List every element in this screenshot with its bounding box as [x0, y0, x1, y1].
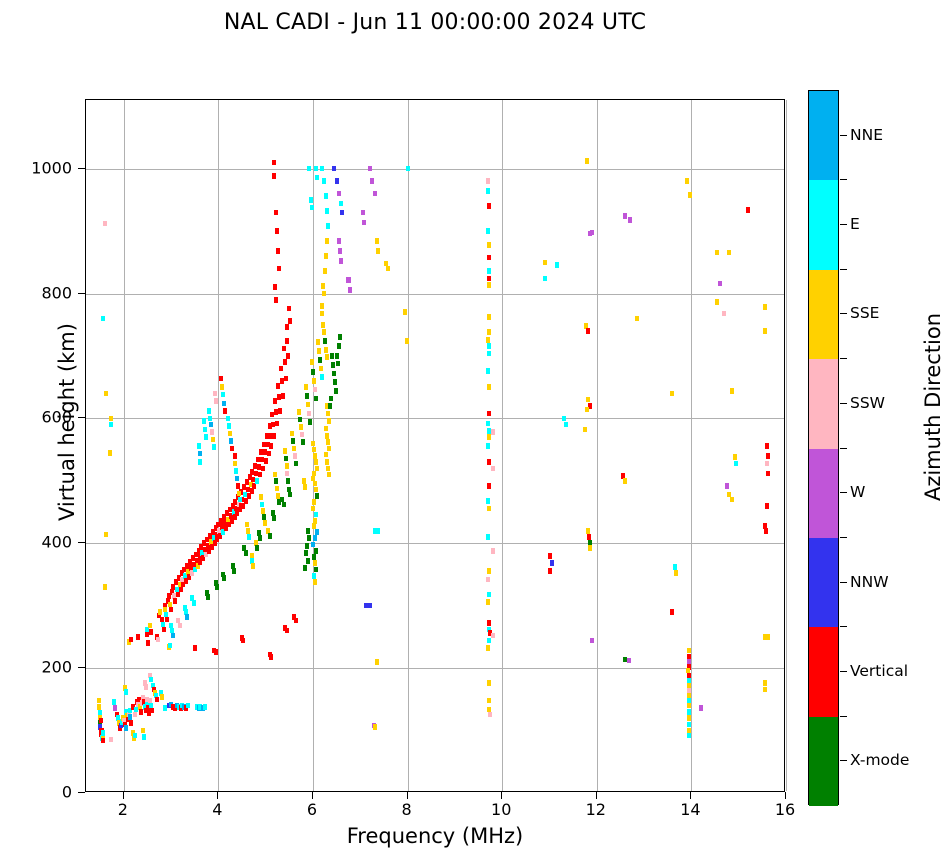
echo-mark: [586, 328, 590, 334]
echo-mark: [543, 276, 547, 282]
echo-mark: [687, 722, 691, 728]
echo-mark: [234, 468, 238, 474]
echo-mark: [260, 502, 264, 508]
echo-mark: [207, 408, 211, 414]
echo-mark: [312, 447, 316, 453]
echo-mark: [103, 221, 107, 227]
colorbar-label-tick: [840, 671, 847, 672]
echo-mark: [368, 603, 372, 609]
echo-mark: [376, 248, 380, 254]
echo-mark: [722, 311, 726, 317]
echo-mark: [486, 599, 490, 605]
echo-mark: [688, 192, 692, 198]
echo-mark: [486, 421, 490, 427]
echo-mark: [144, 684, 148, 690]
echo-mark: [332, 166, 336, 172]
echo-mark: [268, 533, 272, 539]
echo-mark: [315, 529, 319, 535]
echo-mark: [327, 418, 331, 424]
echo-mark: [487, 242, 491, 248]
echo-mark: [487, 483, 491, 489]
echo-mark: [198, 451, 202, 457]
echo-mark: [730, 497, 734, 503]
echo-mark: [685, 178, 689, 184]
echo-mark: [332, 371, 336, 377]
echo-mark: [338, 334, 342, 340]
echo-mark: [279, 366, 283, 372]
echo-mark: [283, 448, 287, 454]
colorbar-label-tick: [840, 135, 847, 136]
echo-mark: [548, 553, 552, 559]
echo-mark: [150, 708, 154, 714]
echo-mark: [310, 205, 314, 211]
echo-mark: [220, 384, 224, 390]
echo-mark: [307, 166, 311, 172]
echo-mark: [282, 346, 286, 352]
echo-mark: [128, 714, 132, 720]
echo-mark: [306, 528, 310, 534]
echo-mark: [206, 594, 210, 600]
echo-mark: [288, 318, 292, 324]
echo-mark: [104, 532, 108, 538]
echo-mark: [324, 193, 328, 199]
echo-mark: [335, 178, 339, 184]
echo-mark: [491, 466, 495, 472]
echo-mark: [628, 217, 632, 223]
echo-mark: [324, 452, 328, 458]
echo-mark: [108, 450, 112, 456]
echo-mark: [487, 506, 491, 512]
colorbar-segment-ssw: [809, 359, 838, 448]
colorbar-label-e: E: [850, 215, 860, 233]
echo-mark: [198, 459, 202, 465]
echo-mark: [486, 228, 490, 234]
echo-mark: [313, 453, 317, 459]
echo-mark: [487, 620, 491, 626]
echo-mark: [406, 166, 410, 172]
echo-mark: [244, 550, 248, 556]
echo-mark: [165, 617, 169, 623]
colorbar-label-nnw: NNW: [850, 573, 889, 591]
echo-mark: [324, 347, 328, 353]
echo-mark: [228, 431, 232, 437]
echo-mark: [103, 584, 107, 590]
echo-mark: [221, 392, 225, 398]
echo-mark: [699, 705, 703, 711]
echo-mark: [273, 472, 277, 478]
echo-mark: [272, 433, 276, 439]
echo-mark: [212, 444, 216, 450]
echo-mark: [241, 638, 245, 644]
echo-mark: [297, 409, 301, 415]
echo-mark: [226, 416, 230, 422]
echo-mark: [328, 403, 332, 409]
echo-mark: [209, 422, 213, 428]
echo-mark: [204, 434, 208, 440]
echo-mark: [113, 705, 117, 711]
echo-mark: [746, 207, 750, 213]
echo-mark: [725, 483, 729, 489]
echo-mark: [324, 426, 328, 432]
echo-mark: [340, 210, 344, 216]
echo-mark: [282, 502, 286, 508]
echo-mark: [99, 718, 103, 724]
echo-mark: [178, 623, 182, 629]
echo-mark: [405, 338, 409, 344]
echo-mark: [320, 374, 324, 380]
colorbar-title: Azimuth Direction: [921, 242, 945, 572]
echo-mark: [306, 558, 310, 564]
echo-mark: [112, 699, 116, 705]
echo-mark: [487, 459, 491, 465]
echo-mark: [321, 283, 325, 289]
echo-mark: [331, 362, 335, 368]
echo-mark: [314, 512, 318, 518]
echo-mark: [765, 443, 769, 449]
echo-mark: [730, 388, 734, 394]
echo-mark: [763, 328, 767, 334]
echo-mark: [133, 733, 137, 739]
echo-mark: [215, 584, 219, 590]
echo-mark: [491, 429, 495, 435]
echo-mark: [715, 299, 719, 305]
echo-mark: [329, 396, 333, 402]
colorbar-segment-nnw: [809, 538, 838, 627]
echo-mark: [311, 506, 315, 512]
colorbar: [808, 90, 839, 805]
echo-mark: [320, 311, 324, 317]
echo-mark: [155, 697, 159, 703]
echo-mark: [312, 554, 316, 560]
echo-mark: [487, 343, 491, 349]
echo-mark: [310, 359, 314, 365]
echo-mark: [586, 528, 590, 534]
echo-mark: [487, 203, 491, 209]
echo-mark: [318, 357, 322, 363]
echo-mark: [277, 266, 281, 272]
echo-mark: [238, 497, 242, 503]
echo-mark: [486, 368, 490, 374]
colorbar-label-tick: [840, 582, 847, 583]
echo-mark: [305, 543, 309, 549]
echo-mark: [486, 498, 490, 504]
colorbar-label-tick: [840, 492, 847, 493]
echo-mark: [223, 408, 227, 414]
echo-mark: [250, 488, 254, 494]
echo-mark: [555, 262, 559, 268]
echo-mark: [149, 677, 153, 683]
echo-mark: [326, 411, 330, 417]
echo-mark: [139, 709, 143, 715]
echo-mark: [294, 461, 298, 467]
echo-mark: [162, 627, 166, 633]
echo-mark: [230, 446, 234, 452]
echo-mark: [326, 466, 330, 472]
echo-mark: [590, 638, 594, 644]
echo-mark: [403, 309, 407, 315]
echo-mark: [171, 633, 175, 639]
echo-mark: [487, 329, 491, 335]
echo-mark: [314, 166, 318, 172]
ionogram-scatter-marks: [86, 100, 784, 791]
colorbar-label-nne: NNE: [850, 126, 883, 144]
colorbar-label-tick: [840, 403, 847, 404]
echo-mark: [292, 446, 296, 452]
y-tick: [78, 542, 85, 543]
echo-mark: [317, 348, 321, 354]
echo-mark: [316, 339, 320, 345]
echo-mark: [203, 427, 207, 433]
echo-mark: [487, 351, 491, 357]
echo-mark: [274, 210, 278, 216]
echo-mark: [766, 634, 770, 640]
echo-mark: [487, 314, 491, 320]
x-tick-label: 12: [586, 800, 606, 819]
echo-mark: [375, 659, 379, 665]
echo-mark: [487, 276, 491, 282]
echo-mark: [124, 725, 128, 731]
echo-mark: [585, 407, 589, 413]
echo-mark: [211, 437, 215, 443]
echo-mark: [763, 304, 767, 310]
x-axis-label: Frequency (MHz): [85, 824, 785, 848]
echo-mark: [156, 637, 160, 643]
echo-mark: [239, 503, 243, 509]
echo-mark: [186, 703, 190, 709]
echo-mark: [368, 166, 372, 172]
echo-mark: [273, 284, 277, 290]
y-tick: [78, 168, 85, 169]
echo-mark: [245, 522, 249, 528]
echo-mark: [673, 564, 677, 570]
colorbar-label-ssw: SSW: [850, 394, 885, 412]
echo-mark: [202, 418, 206, 424]
x-tick: [690, 792, 691, 799]
echo-mark: [487, 255, 491, 261]
echo-mark: [309, 197, 313, 203]
echo-mark: [272, 515, 276, 521]
y-tick: [78, 293, 85, 294]
echo-mark: [307, 535, 311, 541]
echo-mark: [337, 343, 341, 349]
echo-mark: [376, 528, 380, 534]
echo-mark: [373, 724, 377, 730]
echo-mark: [222, 401, 226, 407]
echo-mark: [487, 411, 491, 417]
x-tick-label: 8: [402, 800, 412, 819]
echo-mark: [320, 303, 324, 309]
echo-mark: [487, 282, 491, 288]
echo-mark: [101, 730, 105, 736]
colorbar-tick: [840, 358, 847, 359]
echo-mark: [285, 471, 289, 477]
echo-mark: [146, 640, 150, 646]
echo-mark: [227, 423, 231, 429]
x-tick: [596, 792, 597, 799]
echo-mark: [334, 388, 338, 394]
echo-mark: [487, 268, 491, 274]
colorbar-label-vertical: Vertical: [850, 662, 908, 680]
echo-mark: [208, 416, 212, 422]
echo-mark: [487, 568, 491, 574]
echo-mark: [362, 220, 366, 226]
echo-mark: [687, 709, 691, 715]
echo-mark: [101, 316, 105, 322]
echo-mark: [766, 453, 770, 459]
echo-mark: [274, 478, 278, 484]
colorbar-segment-w: [809, 449, 838, 538]
echo-mark: [586, 397, 590, 403]
echo-mark: [325, 459, 329, 465]
echo-mark: [325, 433, 329, 439]
echo-mark: [487, 698, 491, 704]
echo-mark: [488, 712, 492, 718]
echo-mark: [299, 424, 303, 430]
echo-mark: [346, 277, 350, 283]
echo-mark: [97, 704, 101, 710]
echo-mark: [322, 178, 326, 184]
echo-mark: [291, 438, 295, 444]
echo-mark: [285, 338, 289, 344]
echo-mark: [264, 458, 268, 464]
y-tick: [78, 417, 85, 418]
echo-mark: [247, 493, 251, 499]
echo-mark: [274, 297, 278, 303]
echo-mark: [321, 322, 325, 328]
echo-mark: [298, 417, 302, 423]
plot-area: [85, 99, 785, 792]
echo-mark: [320, 166, 324, 172]
echo-mark: [142, 734, 146, 740]
y-axis-label: Virtual height (km): [55, 222, 79, 622]
echo-mark: [284, 456, 288, 462]
x-tick-label: 16: [775, 800, 795, 819]
echo-mark: [386, 266, 390, 272]
echo-mark: [284, 376, 288, 382]
echo-mark: [322, 291, 326, 297]
echo-mark: [335, 353, 339, 359]
x-tick-label: 6: [307, 800, 317, 819]
echo-mark: [734, 461, 738, 467]
colorbar-segment-e: [809, 180, 838, 269]
echo-mark: [763, 680, 767, 686]
echo-mark: [314, 487, 318, 493]
echo-mark: [97, 698, 101, 704]
echo-mark: [486, 337, 490, 343]
echo-mark: [141, 728, 145, 734]
x-tick-label: 4: [212, 800, 222, 819]
echo-mark: [258, 472, 262, 478]
echo-mark: [104, 391, 108, 397]
echo-mark: [487, 638, 491, 644]
echo-mark: [323, 338, 327, 344]
echo-mark: [278, 408, 282, 414]
echo-mark: [315, 493, 319, 499]
echo-mark: [290, 431, 294, 437]
echo-mark: [149, 629, 153, 635]
echo-mark: [313, 387, 317, 393]
echo-mark: [185, 614, 189, 620]
colorbar-tick: [840, 626, 847, 627]
echo-mark: [313, 560, 317, 566]
echo-mark: [327, 472, 331, 478]
echo-mark: [304, 550, 308, 556]
echo-mark: [548, 568, 552, 574]
echo-mark: [370, 178, 374, 184]
echo-mark: [486, 645, 490, 651]
echo-mark: [214, 398, 218, 404]
echo-mark: [543, 260, 547, 266]
echo-mark: [109, 416, 113, 422]
echo-mark: [674, 570, 678, 576]
echo-mark: [272, 160, 276, 166]
echo-mark: [361, 210, 365, 216]
echo-mark: [375, 238, 379, 244]
colorbar-segment-x-mode: [809, 717, 838, 806]
echo-mark: [715, 250, 719, 256]
echo-mark: [258, 535, 262, 541]
colorbar-segment-nne: [809, 91, 838, 180]
echo-mark: [583, 427, 587, 433]
echo-mark: [491, 548, 495, 554]
echo-mark: [336, 361, 340, 367]
echo-mark: [286, 353, 290, 359]
echo-mark: [313, 535, 317, 541]
echo-mark: [129, 720, 133, 726]
echo-mark: [325, 208, 329, 214]
x-tick: [217, 792, 218, 799]
echo-mark: [179, 587, 183, 593]
echo-mark: [285, 324, 289, 330]
echo-mark: [486, 443, 490, 449]
echo-mark: [261, 466, 265, 472]
echo-mark: [670, 609, 674, 615]
echo-mark: [487, 680, 491, 686]
echo-mark: [263, 520, 267, 526]
y-tick: [78, 792, 85, 793]
colorbar-label-w: W: [850, 483, 865, 501]
echo-mark: [136, 634, 140, 640]
echo-mark: [303, 565, 307, 571]
echo-mark: [210, 429, 214, 435]
colorbar-segment-vertical: [809, 627, 838, 716]
echo-mark: [275, 421, 279, 427]
echo-mark: [319, 366, 323, 372]
echo-mark: [213, 391, 217, 397]
echo-mark: [486, 577, 490, 583]
echo-mark: [314, 567, 318, 573]
echo-mark: [486, 178, 490, 184]
colorbar-tick: [840, 269, 847, 270]
echo-mark: [276, 248, 280, 254]
echo-mark: [487, 592, 491, 598]
colorbar-label-tick: [840, 760, 847, 761]
echo-mark: [285, 463, 289, 469]
echo-mark: [285, 628, 289, 634]
echo-mark: [236, 483, 240, 489]
x-tick-label: 14: [680, 800, 700, 819]
echo-mark: [252, 483, 256, 489]
echo-mark: [765, 461, 769, 467]
echo-mark: [487, 434, 491, 440]
echo-mark: [312, 523, 316, 529]
echo-mark: [337, 191, 341, 197]
colorbar-tick: [840, 179, 847, 180]
echo-mark: [160, 694, 164, 700]
echo-mark: [324, 253, 328, 259]
echo-mark: [326, 439, 330, 445]
x-tick: [312, 792, 313, 799]
